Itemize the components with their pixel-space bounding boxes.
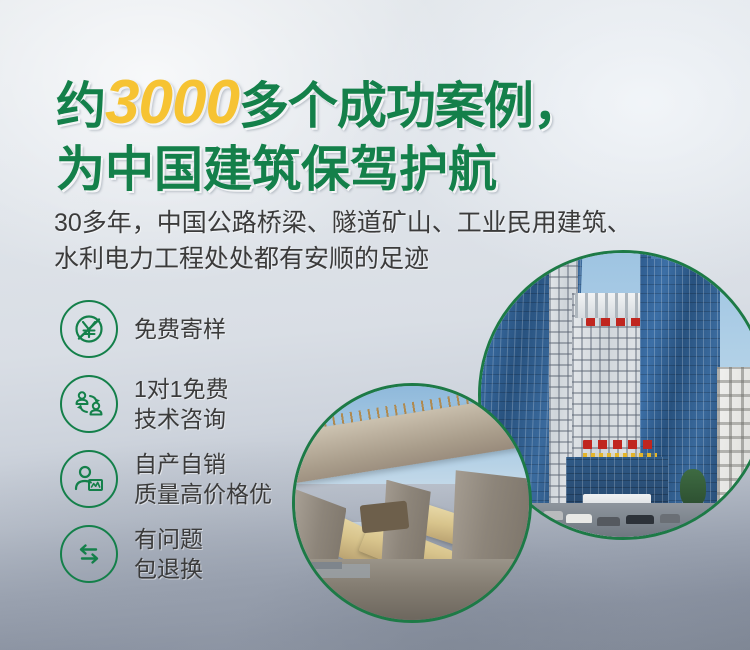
subtitle-line-1: 30多年，中国公路桥梁、隧道矿山、工业民用建筑、 <box>54 205 632 241</box>
feature-item-free-sample[interactable]: 免费寄样 <box>60 298 272 360</box>
headline-number: 3000 <box>105 68 239 137</box>
headline-prefix: 约 <box>56 78 105 134</box>
promo-banner: 约3000多个成功案例， 为中国建筑保驾护航 30多年，中国公路桥梁、隧道矿山、… <box>0 0 750 650</box>
feature-label-free-sample: 免费寄样 <box>134 314 226 344</box>
headline-line-2: 为中国建筑保驾护航 <box>56 146 582 195</box>
feature-list: 免费寄样 1对1免费 技术咨询 <box>60 298 272 598</box>
feature-item-consultation[interactable]: 1对1免费 技术咨询 <box>60 373 272 435</box>
two-people-consultation-icon <box>60 375 118 433</box>
bridge-viaduct-photo <box>292 383 532 623</box>
headline-suffix: 多个成功案例， <box>239 78 582 134</box>
feature-label-return-exchange: 有问题 包退换 <box>134 524 203 585</box>
headline: 约3000多个成功案例， 为中国建筑保驾护航 <box>56 72 582 195</box>
exchange-arrows-icon <box>60 525 118 583</box>
person-chart-icon <box>60 450 118 508</box>
feature-label-consultation: 1对1免费 技术咨询 <box>134 374 229 435</box>
feature-label-self-production: 自产自销 质量高价格优 <box>134 449 272 510</box>
feature-item-return-exchange[interactable]: 有问题 包退换 <box>60 523 272 585</box>
feature-item-self-production[interactable]: 自产自销 质量高价格优 <box>60 448 272 510</box>
yen-no-fee-icon <box>60 300 118 358</box>
